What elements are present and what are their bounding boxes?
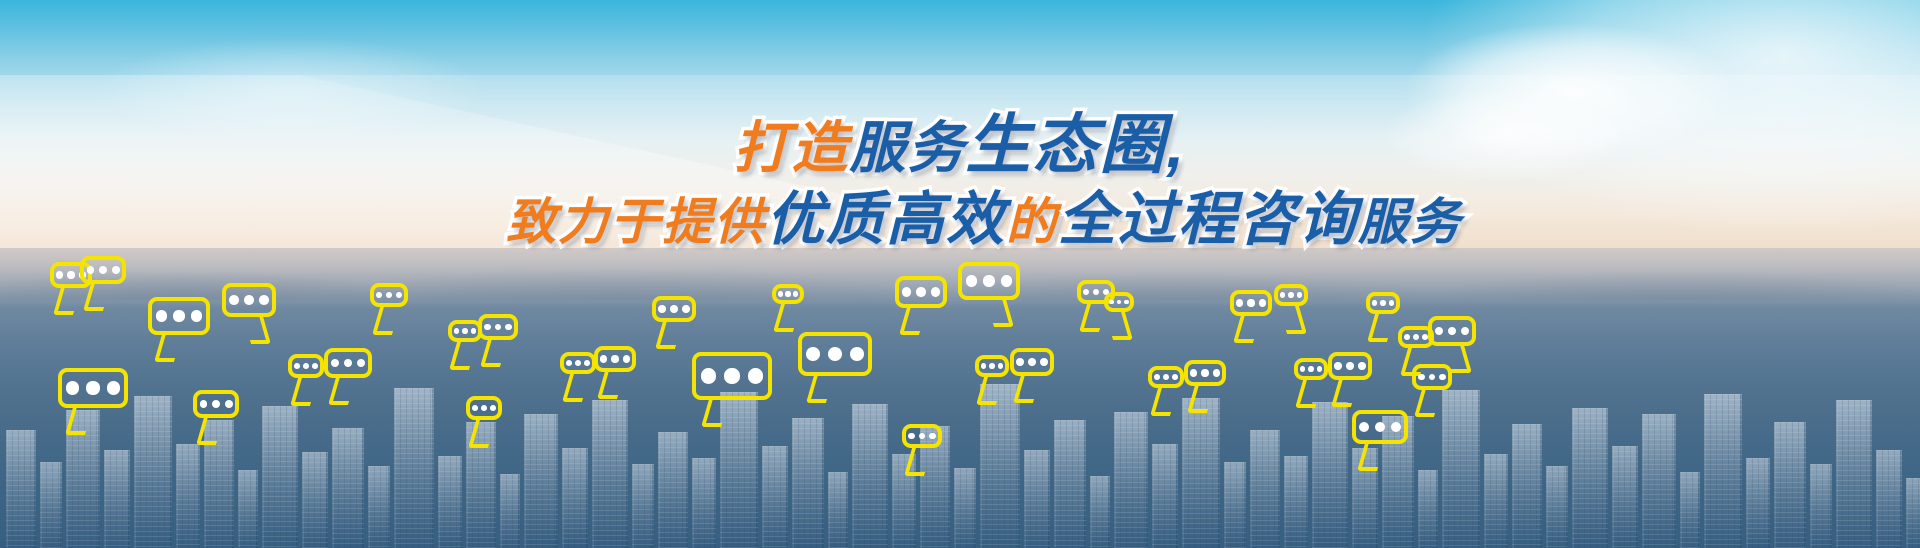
bubble-dot-icon — [1372, 300, 1377, 305]
bubble-dot-icon — [658, 305, 666, 313]
bubble-dot-icon — [472, 405, 478, 411]
bubble-dot-icon — [471, 328, 476, 333]
building-41 — [1312, 402, 1348, 548]
bubble-body — [902, 424, 942, 448]
building-1 — [6, 430, 36, 548]
bubble-dot-icon — [1213, 369, 1220, 376]
bubble-body — [193, 390, 239, 418]
building-47 — [1512, 424, 1542, 548]
bubble-dot-icon — [112, 266, 120, 274]
bubble-dot-icon — [1413, 334, 1419, 340]
bubble-body — [1352, 410, 1408, 444]
bubble-dot-icon — [1236, 299, 1243, 306]
bubble-dot-icon — [303, 363, 309, 369]
building-36 — [1152, 444, 1178, 548]
bubble-dot-icon — [200, 400, 208, 408]
bubble-dot-icon — [1308, 366, 1313, 371]
bubble-dot-icon — [1154, 374, 1160, 380]
bubble-body — [895, 276, 947, 308]
bubble-29 — [1328, 352, 1372, 380]
bubble-20 — [958, 262, 1020, 300]
bubble-dot-icon — [1461, 327, 1469, 335]
bubble-dot-icon — [1389, 300, 1394, 305]
bubble-dot-icon — [312, 363, 318, 369]
bubble-8 — [324, 348, 372, 378]
building-35 — [1114, 412, 1148, 548]
bubble-body — [1148, 366, 1184, 388]
bubble-dot-icon — [1093, 289, 1099, 295]
bubble-dot-icon — [86, 381, 99, 394]
building-57 — [1836, 400, 1872, 548]
bubble-dot-icon — [1300, 366, 1305, 371]
bubble-dot-icon — [505, 324, 512, 331]
bubble-body — [1230, 290, 1272, 316]
bubble-dot-icon — [376, 292, 382, 298]
building-50 — [1612, 446, 1638, 548]
bubble-dot-icon — [1380, 300, 1385, 305]
building-20 — [632, 464, 654, 548]
bubble-body — [324, 348, 372, 378]
bubble-body — [478, 314, 518, 340]
bubble-dot-icon — [850, 347, 864, 361]
bubble-dot-icon — [929, 433, 936, 440]
building-48 — [1546, 466, 1568, 548]
bubble-12 — [466, 396, 502, 420]
bubble-32 — [1352, 410, 1408, 444]
bubble-dot-icon — [1375, 422, 1385, 432]
building-33 — [1054, 420, 1086, 548]
building-4 — [104, 450, 130, 548]
bubble-dot-icon — [357, 359, 365, 367]
bubble-dot-icon — [99, 266, 107, 274]
bubble-dot-icon — [785, 291, 790, 296]
bubble-dot-icon — [56, 271, 63, 278]
bubble-3 — [148, 297, 210, 335]
bubble-dot-icon — [1418, 374, 1425, 381]
bubble-body — [594, 346, 636, 372]
building-58 — [1876, 450, 1902, 548]
bubble-body — [222, 283, 276, 317]
bubble-dot-icon — [259, 295, 269, 305]
bubble-dot-icon — [682, 305, 690, 313]
bubble-body — [148, 297, 210, 335]
bubble-dot-icon — [806, 347, 820, 361]
bubble-dot-icon — [344, 359, 352, 367]
bubble-dot-icon — [1297, 292, 1302, 297]
bubble-body — [1294, 358, 1328, 380]
bubble-body — [1412, 364, 1452, 390]
bubble-dot-icon — [1124, 300, 1129, 305]
bubble-body — [1010, 348, 1054, 376]
bubble-dot-icon — [67, 271, 74, 278]
bubble-dot-icon — [1028, 358, 1036, 366]
bubble-dot-icon — [1429, 374, 1436, 381]
bubble-dot-icon — [1163, 374, 1169, 380]
building-19 — [592, 400, 628, 548]
building-2 — [40, 462, 62, 548]
bubble-dot-icon — [87, 266, 95, 274]
bubble-22 — [975, 355, 1009, 377]
bubble-dot-icon — [1404, 334, 1410, 340]
bubble-dot-icon — [566, 360, 572, 366]
bubble-33 — [1366, 292, 1400, 314]
bubble-15 — [652, 296, 696, 322]
building-13 — [394, 388, 434, 548]
bubble-dot-icon — [1358, 362, 1366, 370]
bubble-body — [1184, 360, 1226, 386]
building-45 — [1442, 390, 1480, 548]
building-59 — [1906, 478, 1920, 548]
building-52 — [1680, 472, 1700, 548]
bubble-body — [466, 396, 502, 420]
building-25 — [792, 418, 824, 548]
bubble-dot-icon — [966, 275, 977, 286]
bubble-dot-icon — [981, 363, 986, 368]
bubble-5 — [58, 368, 128, 408]
bubble-dot-icon — [225, 400, 233, 408]
bubble-dot-icon — [908, 433, 915, 440]
bubble-dot-icon — [1247, 299, 1254, 306]
bubble-dot-icon — [1190, 369, 1197, 376]
bubble-dot-icon — [490, 405, 496, 411]
bubble-body — [1104, 292, 1134, 312]
building-17 — [524, 414, 558, 548]
bubble-dot-icon — [1435, 327, 1443, 335]
bubble-dot-icon — [1359, 422, 1369, 432]
bubble-4 — [222, 283, 276, 317]
bubble-25 — [1104, 292, 1134, 312]
bubble-body — [58, 368, 128, 408]
building-40 — [1284, 456, 1308, 548]
building-23 — [720, 392, 758, 548]
bubble-dot-icon — [1346, 362, 1354, 370]
building-24 — [762, 446, 788, 548]
building-32 — [1024, 450, 1050, 548]
building-12 — [368, 466, 390, 548]
bubble-dot-icon — [173, 310, 184, 321]
building-9 — [262, 406, 298, 548]
bubble-27 — [1184, 360, 1226, 386]
bubble-14 — [594, 346, 636, 372]
bubble-body — [958, 262, 1020, 300]
building-30 — [954, 468, 976, 548]
hero-banner: 打造服务生态圈, 致力于提供优质高效的全过程咨询服务 — [0, 0, 1920, 548]
bubble-10 — [448, 320, 482, 342]
building-56 — [1810, 464, 1832, 548]
bubble-dot-icon — [670, 305, 678, 313]
building-39 — [1250, 430, 1280, 548]
bubble-dot-icon — [1439, 374, 1446, 381]
bubble-6 — [193, 390, 239, 418]
bubble-body — [370, 283, 408, 307]
bubble-body — [80, 256, 126, 284]
building-26 — [828, 472, 848, 548]
building-6 — [176, 444, 200, 548]
bubble-dot-icon — [778, 291, 783, 296]
bubble-dot-icon — [793, 291, 798, 296]
bubble-dot-icon — [212, 400, 220, 408]
bubble-body — [288, 354, 324, 378]
building-8 — [238, 470, 258, 548]
bubble-dot-icon — [495, 324, 502, 331]
bubble-18 — [772, 284, 804, 304]
bubble-dot-icon — [66, 381, 79, 394]
building-21 — [658, 432, 688, 548]
bubble-19 — [895, 276, 947, 308]
building-22 — [692, 458, 716, 548]
building-37 — [1182, 398, 1220, 548]
bubble-body — [692, 352, 772, 400]
bubble-dot-icon — [1448, 327, 1456, 335]
building-44 — [1418, 470, 1438, 548]
bubble-dot-icon — [584, 360, 590, 366]
bubble-dot-icon — [611, 355, 618, 362]
bubble-31 — [1274, 284, 1308, 306]
building-11 — [332, 428, 364, 548]
bubble-23 — [1010, 348, 1054, 376]
bubble-dot-icon — [1172, 374, 1178, 380]
bubble-dot-icon — [294, 363, 300, 369]
building-54 — [1746, 458, 1770, 548]
bubble-dot-icon — [191, 310, 202, 321]
building-38 — [1224, 462, 1246, 548]
bubble-dot-icon — [931, 287, 940, 296]
bubble-dot-icon — [1117, 300, 1122, 305]
bubble-dot-icon — [156, 310, 167, 321]
bubble-26 — [1148, 366, 1184, 388]
bubble-dot-icon — [1083, 289, 1089, 295]
building-18 — [562, 448, 588, 548]
bubble-16 — [692, 352, 772, 400]
bubble-dot-icon — [919, 433, 926, 440]
bubble-30 — [1230, 290, 1272, 316]
bubble-dot-icon — [1001, 275, 1012, 286]
bubble-21 — [902, 424, 942, 448]
bubble-dot-icon — [386, 292, 392, 298]
bubble-dot-icon — [902, 287, 911, 296]
bubble-dot-icon — [1280, 292, 1285, 297]
building-5 — [134, 396, 172, 548]
bubble-body — [798, 332, 872, 376]
bubble-35 — [1428, 316, 1476, 346]
bubble-2 — [80, 256, 126, 284]
bubble-dot-icon — [1040, 358, 1048, 366]
bubble-36 — [1412, 364, 1452, 390]
bubble-dot-icon — [916, 287, 925, 296]
building-53 — [1704, 394, 1742, 548]
bubble-13 — [560, 352, 596, 374]
bubble-dot-icon — [484, 324, 491, 331]
bubble-dot-icon — [1288, 292, 1293, 297]
bubble-dot-icon — [701, 368, 716, 383]
bubble-dot-icon — [1334, 362, 1342, 370]
bubble-dot-icon — [229, 295, 239, 305]
bubble-dot-icon — [989, 363, 994, 368]
building-16 — [500, 474, 520, 548]
bubble-body — [1328, 352, 1372, 380]
bubble-dot-icon — [396, 292, 402, 298]
bubble-7 — [288, 354, 324, 378]
bubble-body — [772, 284, 804, 304]
building-14 — [438, 456, 462, 548]
bubble-9 — [370, 283, 408, 307]
building-49 — [1572, 408, 1608, 548]
bubble-dot-icon — [1109, 300, 1114, 305]
bubble-17 — [798, 332, 872, 376]
bubble-dot-icon — [828, 347, 842, 361]
bubble-dot-icon — [983, 275, 994, 286]
bubble-body — [1274, 284, 1308, 306]
building-46 — [1484, 454, 1508, 548]
bubble-28 — [1294, 358, 1328, 380]
bubble-dot-icon — [1016, 358, 1024, 366]
bubble-dot-icon — [748, 368, 763, 383]
bubble-dot-icon — [244, 295, 254, 305]
bubble-dot-icon — [454, 328, 459, 333]
bubble-dot-icon — [107, 381, 120, 394]
bubble-dot-icon — [481, 405, 487, 411]
bubble-body — [1366, 292, 1400, 314]
bubble-body — [975, 355, 1009, 377]
bubble-dot-icon — [462, 328, 467, 333]
building-31 — [980, 384, 1020, 548]
bubble-11 — [478, 314, 518, 340]
bubble-dot-icon — [998, 363, 1003, 368]
bubble-dot-icon — [1259, 299, 1266, 306]
bubble-dot-icon — [600, 355, 607, 362]
bubble-dot-icon — [724, 368, 739, 383]
bubble-body — [652, 296, 696, 322]
building-27 — [852, 404, 888, 548]
building-55 — [1774, 422, 1806, 548]
bubble-body — [1428, 316, 1476, 346]
bubble-dot-icon — [623, 355, 630, 362]
building-51 — [1642, 414, 1676, 548]
bubble-body — [448, 320, 482, 342]
bubble-body — [560, 352, 596, 374]
building-34 — [1090, 476, 1110, 548]
bubble-dot-icon — [1317, 366, 1322, 371]
bubble-dot-icon — [1201, 369, 1208, 376]
bubble-dot-icon — [331, 359, 339, 367]
building-10 — [302, 452, 328, 548]
bubble-dot-icon — [1391, 422, 1401, 432]
bubble-dot-icon — [575, 360, 581, 366]
